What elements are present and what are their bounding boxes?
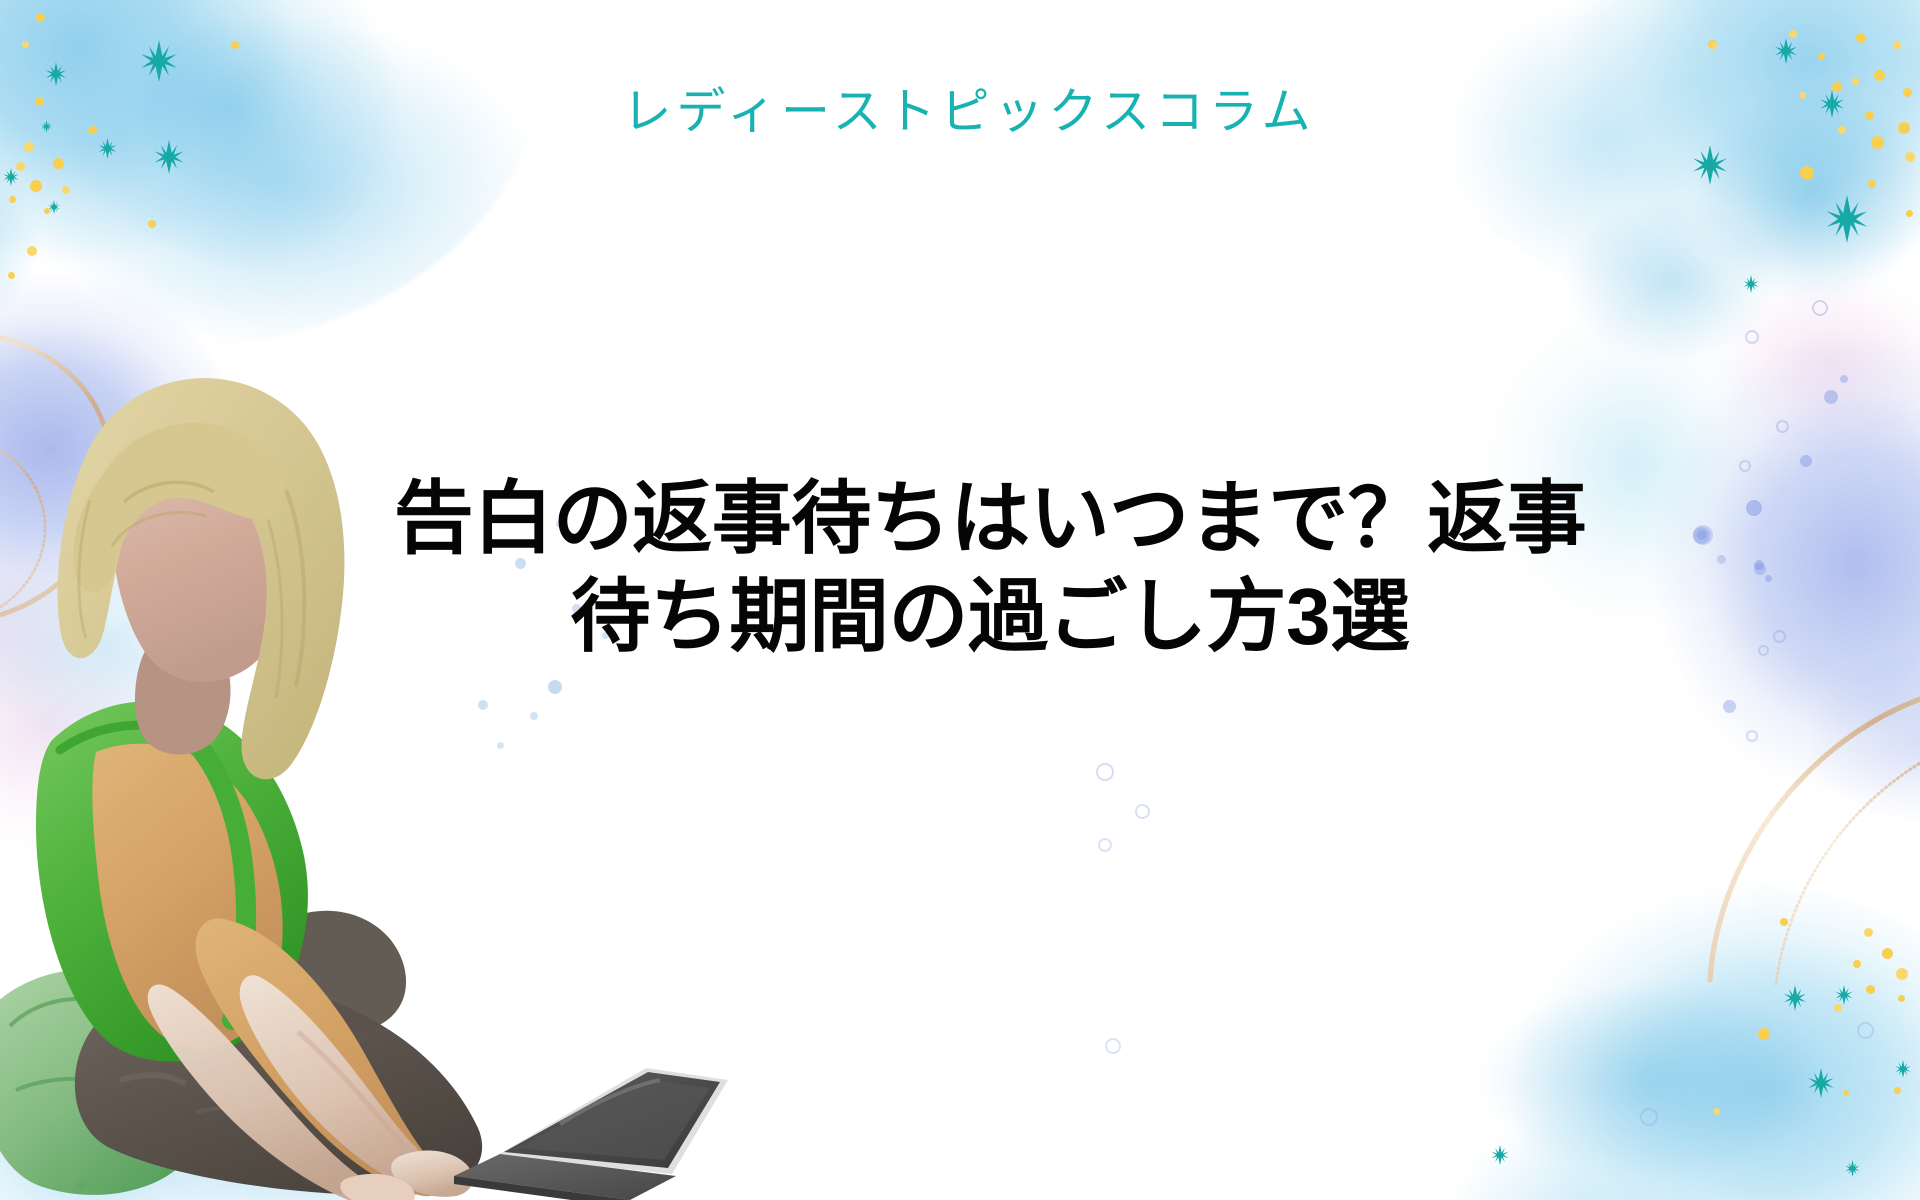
confetti-dot [1711,42,1717,48]
confetti-dot [1708,40,1717,49]
confetti-dot [9,196,16,203]
eyebrow-text: レディーストピックスコラム [604,85,1315,139]
confetti-dot [53,158,64,169]
laptop-shape [454,1068,728,1200]
bubble-dot [1754,560,1764,570]
sparkle-star-icon [1690,145,1730,185]
bubble-ring [1096,763,1114,781]
confetti-dot [1905,152,1915,162]
sparkle-star-icon [1823,195,1871,243]
watercolor-wash-top-left [0,0,540,350]
confetti-dot [1866,985,1875,994]
confetti-dot [30,180,42,192]
bubble-ring [1105,1038,1121,1054]
confetti-dot [1856,33,1866,43]
bubble-ring [1739,460,1751,472]
bubble-ring [1773,630,1786,643]
confetti-dot [1882,948,1893,959]
confetti-dot [22,41,29,48]
bubble-ring [1135,804,1150,819]
sparkle-star-icon [1834,985,1854,1005]
ink-blob-right [1650,330,1920,850]
confetti-dot [16,162,25,171]
page-title-line-1: 告白の返事待ちはいつまで？返事 [330,470,1650,568]
confetti-dot [8,272,15,279]
confetti-dot [1713,1108,1720,1115]
confetti-dot [1906,210,1913,217]
bubble-dot [1693,527,1710,544]
bubble-ring [1640,1108,1658,1126]
confetti-dot [1818,53,1825,60]
sparkle-star-icon [1490,1145,1510,1165]
bubble-ring [1758,645,1769,656]
gold-glitter-arc-right [1680,560,1920,990]
confetti-dot [1868,180,1876,188]
confetti-dot [1898,995,1905,1002]
confetti-dot [36,13,45,22]
sparkle-star-icon [2,168,20,186]
sparkle-star-icon [1894,1060,1912,1078]
confetti-dot [231,41,239,49]
bubble-dot [1717,555,1726,564]
confetti-dot [1893,41,1901,49]
confetti-dot [148,220,156,228]
sparkle-star-icon [1782,985,1808,1011]
confetti-dot [1834,1004,1842,1012]
bubble-dot [1693,525,1713,545]
confetti-dot [44,208,50,214]
cover-image-canvas: レディーストピックスコラム 告白の返事待ちはいつまで？返事 待ち期間の過ごし方3… [0,0,1920,1200]
eyebrow-label: レディーストピックスコラム [0,72,1920,143]
watercolor-wash-bottom-right-2 [1440,960,1860,1200]
page-title: 告白の返事待ちはいつまで？返事 待ち期間の過ごし方3選 [330,470,1650,665]
bubble-ring [1776,420,1789,433]
confetti-dot [1864,928,1873,937]
sparkle-star-icon [1742,275,1760,293]
bubble-dot [1723,700,1736,713]
sparkle-star-icon [1806,1068,1836,1098]
confetti-dot [1843,1090,1849,1096]
woman-with-laptop-illustration [0,320,860,1200]
confetti-dot [24,142,34,152]
watercolor-wash-top-right [1410,0,1920,320]
confetti-dot [1896,968,1908,980]
bubble-ring [1812,300,1828,316]
bubble-dot [1765,575,1772,582]
bubble-ring [1745,330,1759,344]
confetti-dot [62,186,70,194]
bubble-dot [1800,455,1812,467]
confetti-dot [1800,166,1814,180]
watercolor-wash-top-right-3 [1540,180,1800,380]
watercolor-wash-bottom-right [1410,880,1920,1200]
bubble-dot [1746,500,1762,516]
confetti-dot [1894,1087,1901,1094]
bubble-dot [1824,390,1838,404]
sparkle-star-icon [152,140,186,174]
sparkle-star-icon [1844,1160,1861,1177]
bubble-ring [1746,730,1758,742]
sparkle-star-icon [1773,38,1799,64]
bubble-dot [1840,375,1848,383]
bubble-ring [1857,1022,1874,1039]
bubble-dot [1754,563,1766,575]
confetti-dot [1758,1028,1770,1040]
confetti-dot [1853,960,1861,968]
bubble-dot [1697,530,1707,540]
sparkle-star-icon [47,200,61,214]
ink-blob-right-pink [1680,250,1920,480]
bubble-ring [1098,838,1112,852]
page-title-line-2: 待ち期間の過ごし方3選 [330,568,1650,666]
confetti-dot [1780,918,1788,926]
confetti-dot [1789,30,1797,38]
confetti-dot [27,246,37,256]
